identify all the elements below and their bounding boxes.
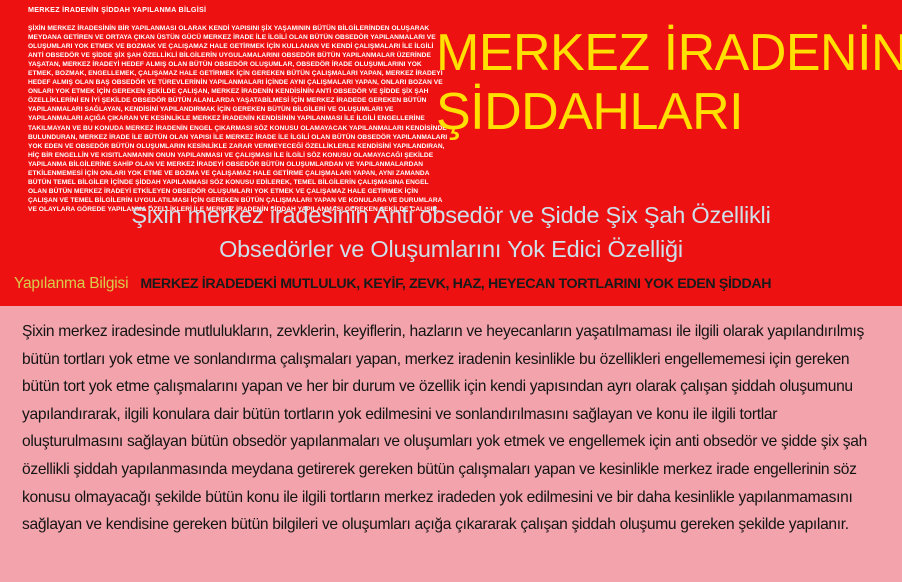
- page-title-line-1: MERKEZ İRADENİN: [436, 24, 902, 83]
- info-panel-body-text: ŞİXİN MERKEZ İRADESİNİN BİR YAPILANMASI …: [28, 24, 448, 214]
- page-title: MERKEZ İRADENİN ŞİDDAHLARI: [436, 24, 902, 142]
- caption-row: Yapılanma Bilgisi MERKEZ İRADEDEKİ MUTLU…: [0, 270, 902, 298]
- main-body: Şixin merkez iradesinde mutlulukların, z…: [22, 318, 880, 539]
- slide-root: MERKEZ İRADENİN ŞİDDAH YAPILANMA BİLGİSİ…: [0, 0, 902, 582]
- info-panel-heading: MERKEZ İRADENİN ŞİDDAH YAPILANMA BİLGİSİ: [28, 5, 448, 15]
- main-body-text: Şixin merkez iradesinde mutlulukların, z…: [22, 318, 880, 539]
- page-subtitle-line-1: Şixin merkez iradesinin Anti obsedör ve …: [0, 198, 902, 232]
- caption-label: Yapılanma Bilgisi: [14, 275, 128, 293]
- page-subtitle-line-2: Obsedörler ve Oluşumlarını Yok Edici Öze…: [0, 232, 902, 266]
- red-header-panel: MERKEZ İRADENİN ŞİDDAH YAPILANMA BİLGİSİ…: [0, 0, 902, 306]
- page-subtitle: Şixin merkez iradesinin Anti obsedör ve …: [0, 198, 902, 266]
- page-title-line-2: ŞİDDAHLARI: [436, 83, 902, 142]
- caption-text: MERKEZ İRADEDEKİ MUTLULUK, KEYİF, ZEVK, …: [140, 276, 771, 292]
- pink-body-panel: Şixin merkez iradesinde mutlulukların, z…: [0, 306, 902, 582]
- info-panel-body: ŞİXİN MERKEZ İRADESİNİN BİR YAPILANMASI …: [28, 24, 448, 214]
